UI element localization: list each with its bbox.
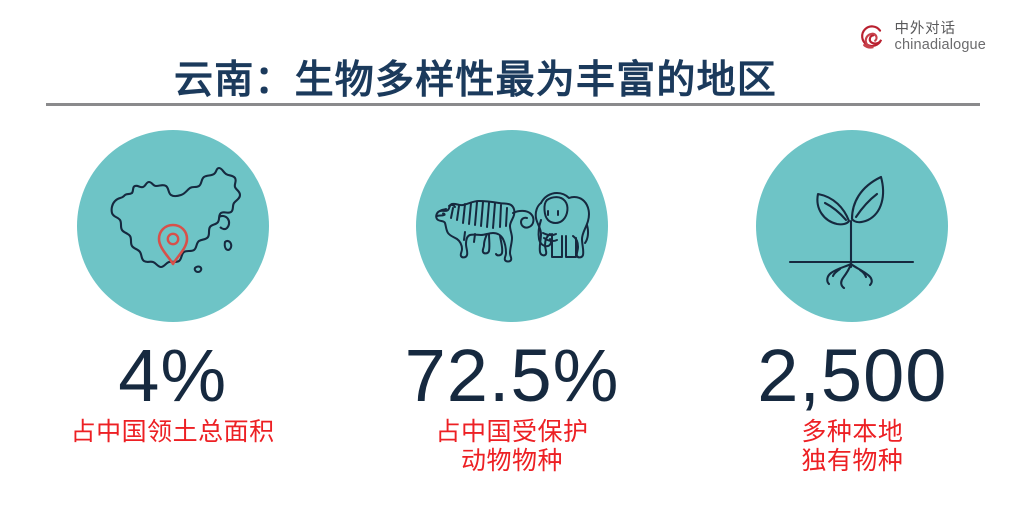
stat-group: 4% 占中国领土总面积 [0,130,1024,476]
seedling-with-roots-icon [782,163,922,289]
infographic-canvas: 中外对话 chinadialogue 云南：生物多样性最为丰富的地区 4% 占中… [0,0,1024,512]
stat-item: 72.5% 占中国受保护 动物物种 [341,130,682,476]
stat-value: 72.5% [405,336,620,416]
stat-caption: 多种本地 独有物种 [801,418,903,476]
brand-name-cn: 中外对话 [895,22,986,38]
page-title: 云南：生物多样性最为丰富的地区 [174,57,777,105]
stat-caption: 占中国领土总面积 [71,418,275,447]
china-map-with-location-pin-icon [99,162,247,290]
brand-logo: 中外对话 chinadialogue [858,22,986,53]
header-divider [46,103,980,106]
stat-icon-circle [416,130,608,322]
stat-value: 4% [118,336,227,416]
chinadialogue-spiral-icon [858,24,886,52]
stat-value: 2,500 [757,336,947,416]
stat-item: 4% 占中国领土总面积 [2,130,343,476]
stat-caption: 占中国受保护 动物物种 [435,418,588,476]
brand-name-en: chinadialogue [895,38,986,54]
stat-item: 2,500 多种本地 独有物种 [682,130,1023,476]
stat-icon-circle [77,130,269,322]
tiger-and-elephant-icon [431,170,593,282]
brand-wordmark: 中外对话 chinadialogue [895,22,986,53]
stat-icon-circle [756,130,948,322]
